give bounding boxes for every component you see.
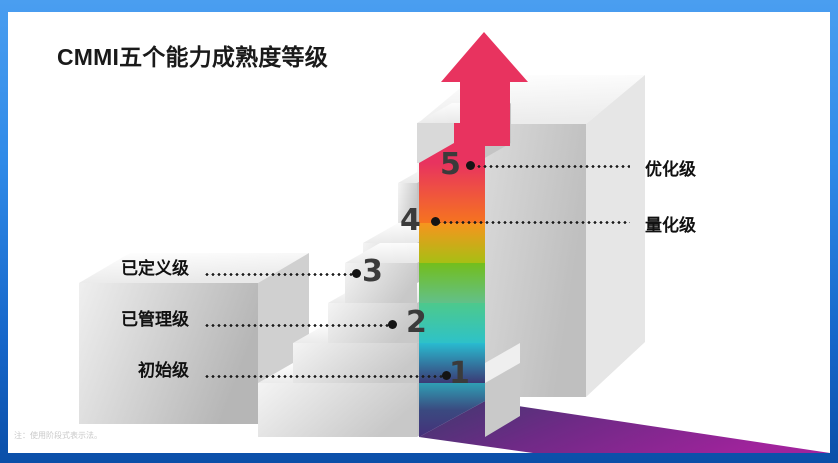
carpet-riser-4	[419, 263, 485, 303]
leader-line-5	[470, 165, 630, 168]
step-number-5-text: 5	[440, 147, 461, 182]
leader-line-3	[204, 273, 354, 276]
step-number-2: 2	[406, 308, 427, 338]
step-number-1-text: 1	[449, 356, 470, 391]
carpet-riser-3	[419, 303, 485, 343]
level-label-defined: 已定义级	[8, 254, 189, 279]
leader-line-4	[436, 221, 630, 224]
step-number-5: 5	[440, 150, 461, 180]
level-label-initial: 初始级	[8, 356, 189, 381]
carpet-floor	[419, 401, 830, 453]
leader-line-1	[204, 375, 444, 378]
step-number-3-text: 3	[362, 254, 383, 289]
step-number-4-text: 4	[400, 203, 421, 238]
carpet-riser-5	[419, 223, 485, 263]
slide-frame: CMMI五个能力成熟度等级	[0, 0, 838, 463]
step-number-3: 3	[362, 257, 383, 287]
leader-dot-3	[352, 269, 361, 278]
level-label-quantitative: 量化级	[645, 211, 696, 236]
leader-dot-5	[466, 161, 475, 170]
leader-dot-2	[388, 320, 397, 329]
leader-line-2	[204, 324, 390, 327]
step-number-2-text: 2	[406, 305, 427, 340]
slide-canvas: CMMI五个能力成熟度等级	[8, 12, 830, 453]
level-label-managed: 已管理级	[8, 305, 189, 330]
step-number-1: 1	[449, 359, 470, 389]
footnote: 注：使用阶段式表示法。	[14, 430, 102, 441]
step-number-4: 4	[400, 206, 421, 236]
leader-dot-4	[431, 217, 440, 226]
level-label-optimizing: 优化级	[645, 155, 696, 180]
